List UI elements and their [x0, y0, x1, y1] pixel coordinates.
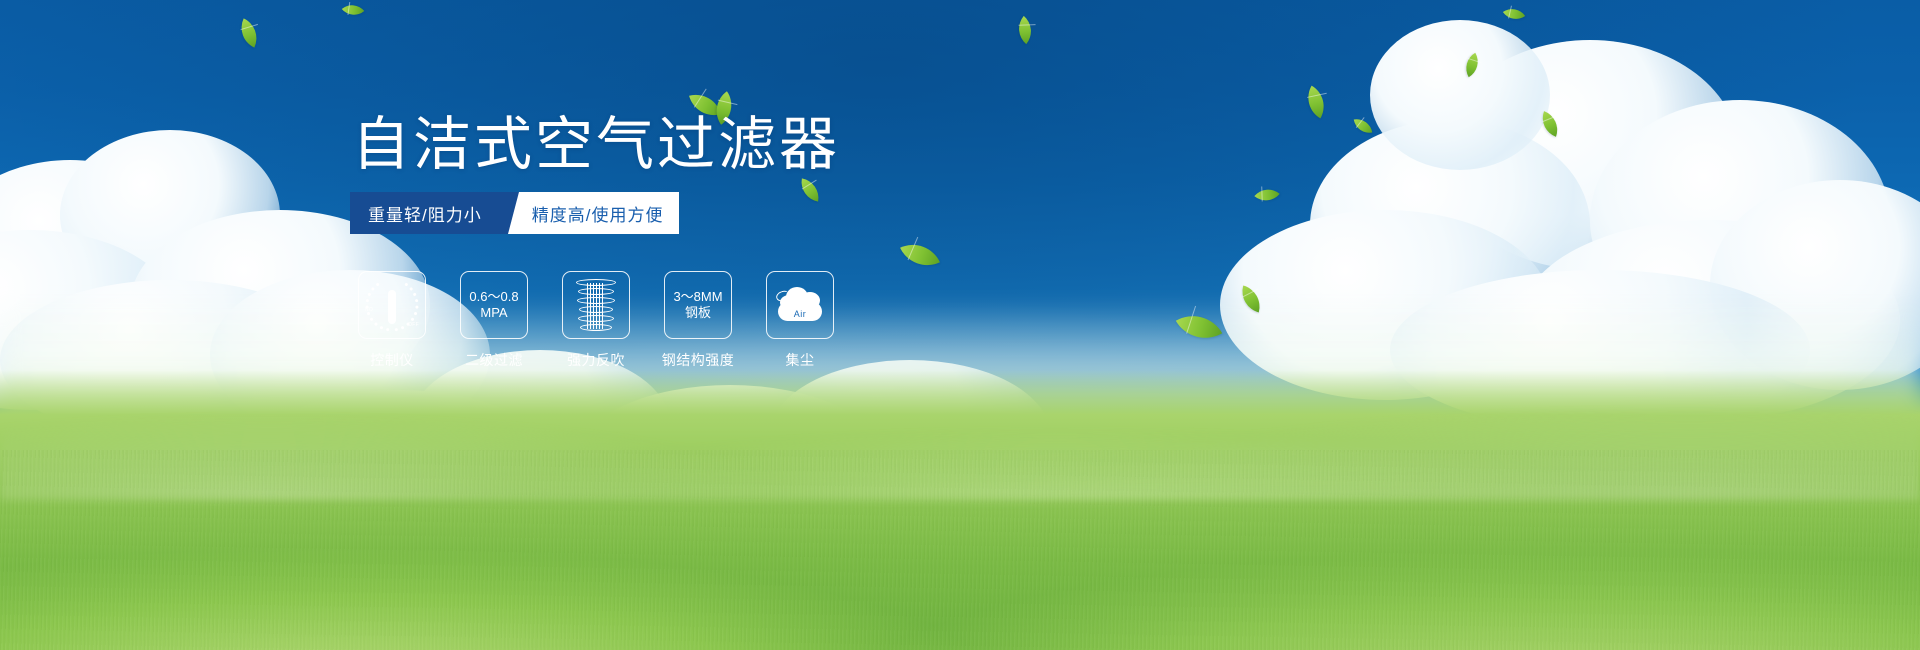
dial-label-off: OFF	[408, 322, 419, 328]
feature-caption: 控制仪	[370, 350, 414, 370]
steel-thickness: 3～8MM	[673, 289, 722, 305]
feature-caption: 强力反吹	[567, 350, 625, 370]
steel-plate-text-icon: 3～8MM 钢板	[673, 289, 722, 321]
feature-item-two-stage-filter: 0.6～0.8 MPA 二级过滤	[460, 271, 528, 370]
feature-caption: 集尘	[786, 350, 815, 370]
product-hero-banner: 自洁式空气过滤器 重量轻/阻力小 精度高/使用方便	[0, 0, 1920, 650]
feature-item-backblow: 强力反吹	[562, 271, 630, 370]
dial-label-no: NO	[365, 307, 373, 313]
feature-icon-row: NO OFF 控制仪 0.6～0.8 MPA 二级过滤	[358, 271, 834, 370]
badge-label: 重量轻/阻力小	[368, 201, 482, 226]
page-title: 自洁式空气过滤器	[352, 116, 840, 174]
feature-icon-box: 3～8MM 钢板	[664, 271, 732, 339]
feature-caption: 二级过滤	[465, 350, 523, 370]
pressure-text-icon: 0.6～0.8 MPA	[469, 289, 518, 321]
steel-material: 钢板	[673, 305, 722, 321]
control-dial-icon: NO OFF	[364, 277, 420, 333]
feature-icon-box: 0.6～0.8 MPA	[460, 271, 528, 339]
feature-icon-box: NO OFF	[358, 271, 426, 339]
dial-pointer	[388, 290, 396, 324]
feature-item-dust-collection: Air 集尘	[766, 271, 834, 370]
badge-precision-convenience: 精度高/使用方便	[508, 192, 680, 234]
badge-weight-resistance: 重量轻/阻力小	[350, 192, 508, 234]
coil-filter-icon	[574, 279, 618, 331]
feature-caption: 钢结构强度	[662, 350, 735, 370]
banner-content: 自洁式空气过滤器 重量轻/阻力小 精度高/使用方便	[0, 0, 1920, 650]
air-label: Air	[774, 309, 826, 319]
pressure-range: 0.6～0.8	[469, 289, 518, 305]
pressure-unit: MPA	[469, 305, 518, 321]
air-cloud-icon: Air	[774, 285, 826, 325]
feature-badges: 重量轻/阻力小 精度高/使用方便	[350, 192, 679, 234]
feature-icon-box: Air	[766, 271, 834, 339]
feature-icon-box	[562, 271, 630, 339]
feature-item-controller: NO OFF 控制仪	[358, 271, 426, 370]
badge-label: 精度高/使用方便	[532, 201, 664, 226]
feature-item-steel-strength: 3～8MM 钢板 钢结构强度	[664, 271, 732, 370]
